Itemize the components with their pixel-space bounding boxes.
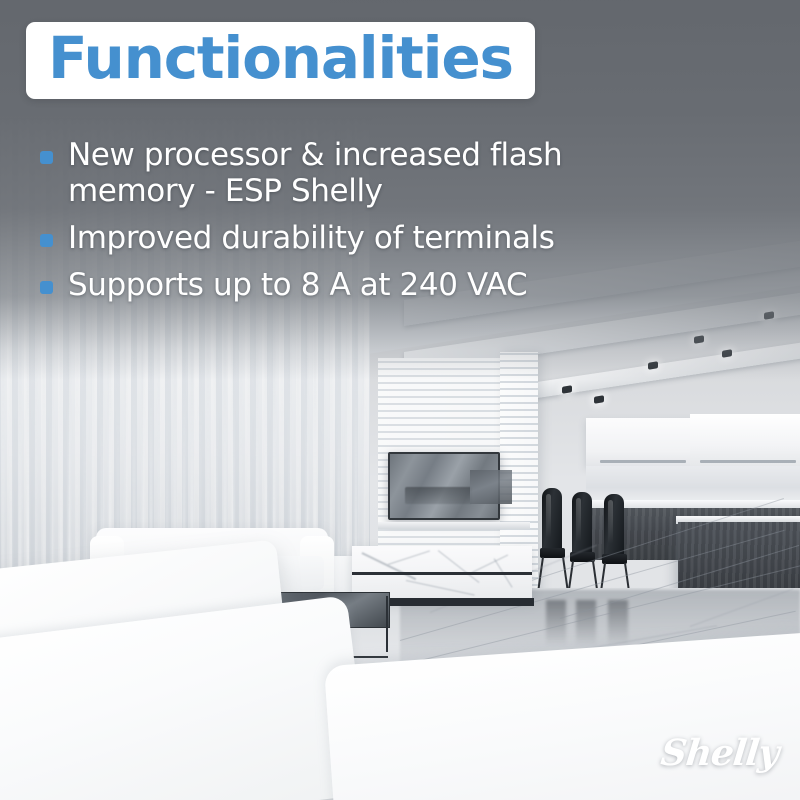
bullet-square-icon [40,281,53,294]
feature-text: Improved durability of terminals [68,221,555,257]
shelly-logo: Shelly [658,732,780,774]
poster-canvas: Functionalities New processor & increase… [0,0,800,800]
feature-text: Supports up to 8 A at 240 VAC [68,268,527,304]
list-item: Supports up to 8 A at 240 VAC [40,268,660,304]
feature-text: New processor & increased flash memory -… [68,138,660,210]
feature-list: New processor & increased flash memory -… [40,138,660,315]
page-title: Functionalities [48,29,513,88]
title-banner: Functionalities [26,22,535,99]
bullet-square-icon [40,234,53,247]
list-item: Improved durability of terminals [40,221,660,257]
list-item: New processor & increased flash memory -… [40,138,660,210]
poster-content: Functionalities New processor & increase… [0,0,800,800]
bullet-square-icon [40,151,53,164]
